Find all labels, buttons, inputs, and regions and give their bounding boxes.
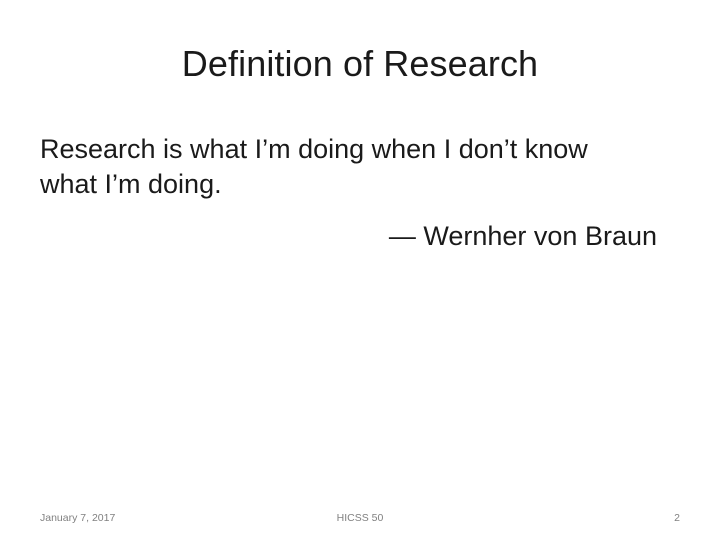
footer-event-name: HICSS 50 bbox=[240, 505, 480, 531]
footer-date: January 7, 2017 bbox=[40, 505, 115, 531]
page-title: Definition of Research bbox=[40, 42, 680, 86]
footer-page-number: 2 bbox=[674, 505, 680, 531]
slide-canvas: Definition of Research Research is what … bbox=[0, 0, 720, 540]
title-placeholder: Definition of Research bbox=[40, 42, 680, 86]
quote-text: Research is what I’m doing when I don’t … bbox=[40, 132, 652, 202]
content-placeholder: Research is what I’m doing when I don’t … bbox=[40, 132, 660, 254]
slide-footer: January 7, 2017 HICSS 50 2 bbox=[0, 505, 720, 531]
quote-attribution: — Wernher von Braun bbox=[40, 219, 660, 254]
